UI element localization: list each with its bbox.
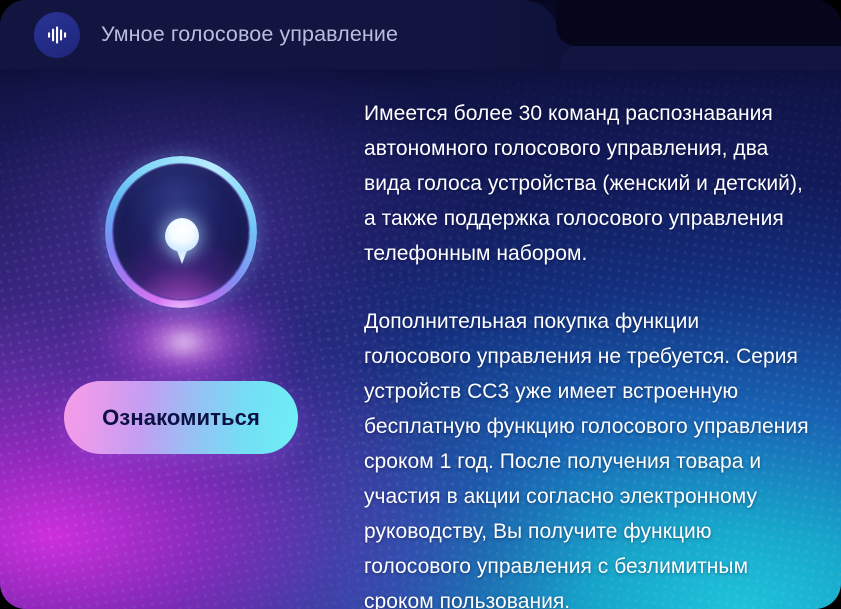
header-bar-extension — [560, 44, 841, 70]
header: Умное голосовое управление — [0, 0, 398, 69]
voice-waveform-icon — [34, 12, 80, 58]
promo-card: Умное голосовое управление Ознакомиться … — [0, 0, 841, 609]
description-text-block: Имеется более 30 команд распознавания ав… — [364, 96, 812, 609]
paragraph-2: Дополнительная покупка функции голосовог… — [364, 304, 812, 609]
paragraph-1: Имеется более 30 команд распознавания ав… — [364, 96, 812, 271]
header-notch-dark — [556, 0, 841, 46]
learn-more-button[interactable]: Ознакомиться — [64, 381, 298, 454]
voice-assistant-orb — [97, 152, 267, 327]
orb-ring — [105, 156, 257, 308]
page-title: Умное голосовое управление — [101, 22, 398, 47]
